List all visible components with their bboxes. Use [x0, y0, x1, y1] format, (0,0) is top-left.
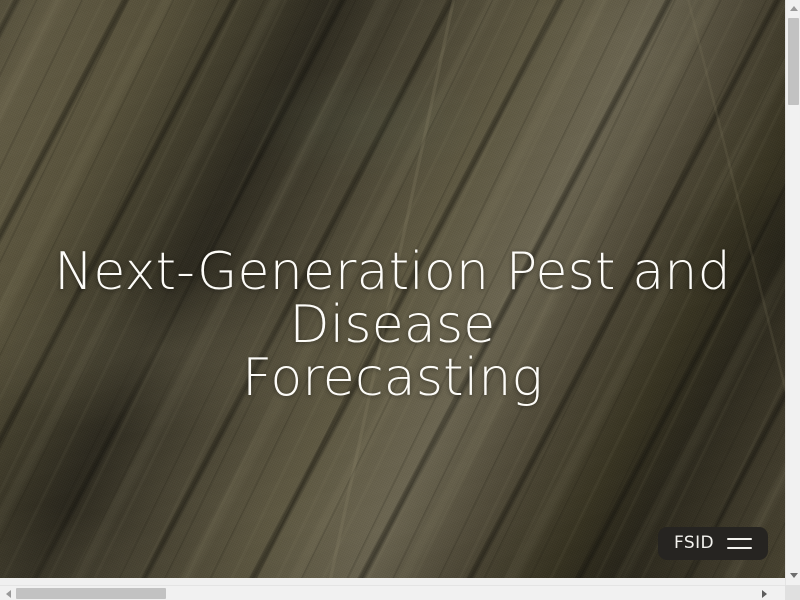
hero-slide: Next-Generation Pest and Disease Forecas… — [0, 0, 785, 578]
page-title: Next-Generation Pest and Disease Forecas… — [0, 246, 785, 405]
chevron-up-icon[interactable] — [786, 1, 800, 16]
fsid-badge[interactable]: FSID — [658, 527, 768, 560]
arrow-left-glyph — [6, 590, 11, 598]
menu-icon-bar-2 — [727, 547, 752, 549]
hamburger-menu-icon[interactable] — [727, 538, 752, 549]
scrollbar-corner — [785, 585, 800, 600]
horizontal-scrollbar[interactable] — [0, 585, 785, 600]
chevron-left-icon[interactable] — [1, 586, 16, 600]
horizontal-scroll-thumb[interactable] — [16, 588, 166, 599]
vertical-scrollbar[interactable] — [785, 0, 800, 585]
chevron-right-icon[interactable] — [757, 586, 772, 600]
vertical-scroll-thumb[interactable] — [788, 18, 799, 105]
horizontal-scroll-track[interactable] — [166, 586, 766, 600]
arrow-up-glyph — [790, 6, 798, 11]
browser-window: Next-Generation Pest and Disease Forecas… — [0, 0, 800, 600]
chevron-down-icon[interactable] — [786, 568, 800, 583]
fsid-badge-label: FSID — [674, 535, 714, 552]
arrow-down-glyph — [790, 573, 798, 578]
page-viewport: Next-Generation Pest and Disease Forecas… — [0, 0, 785, 578]
menu-icon-bar-1 — [727, 538, 752, 540]
arrow-right-glyph — [762, 590, 767, 598]
